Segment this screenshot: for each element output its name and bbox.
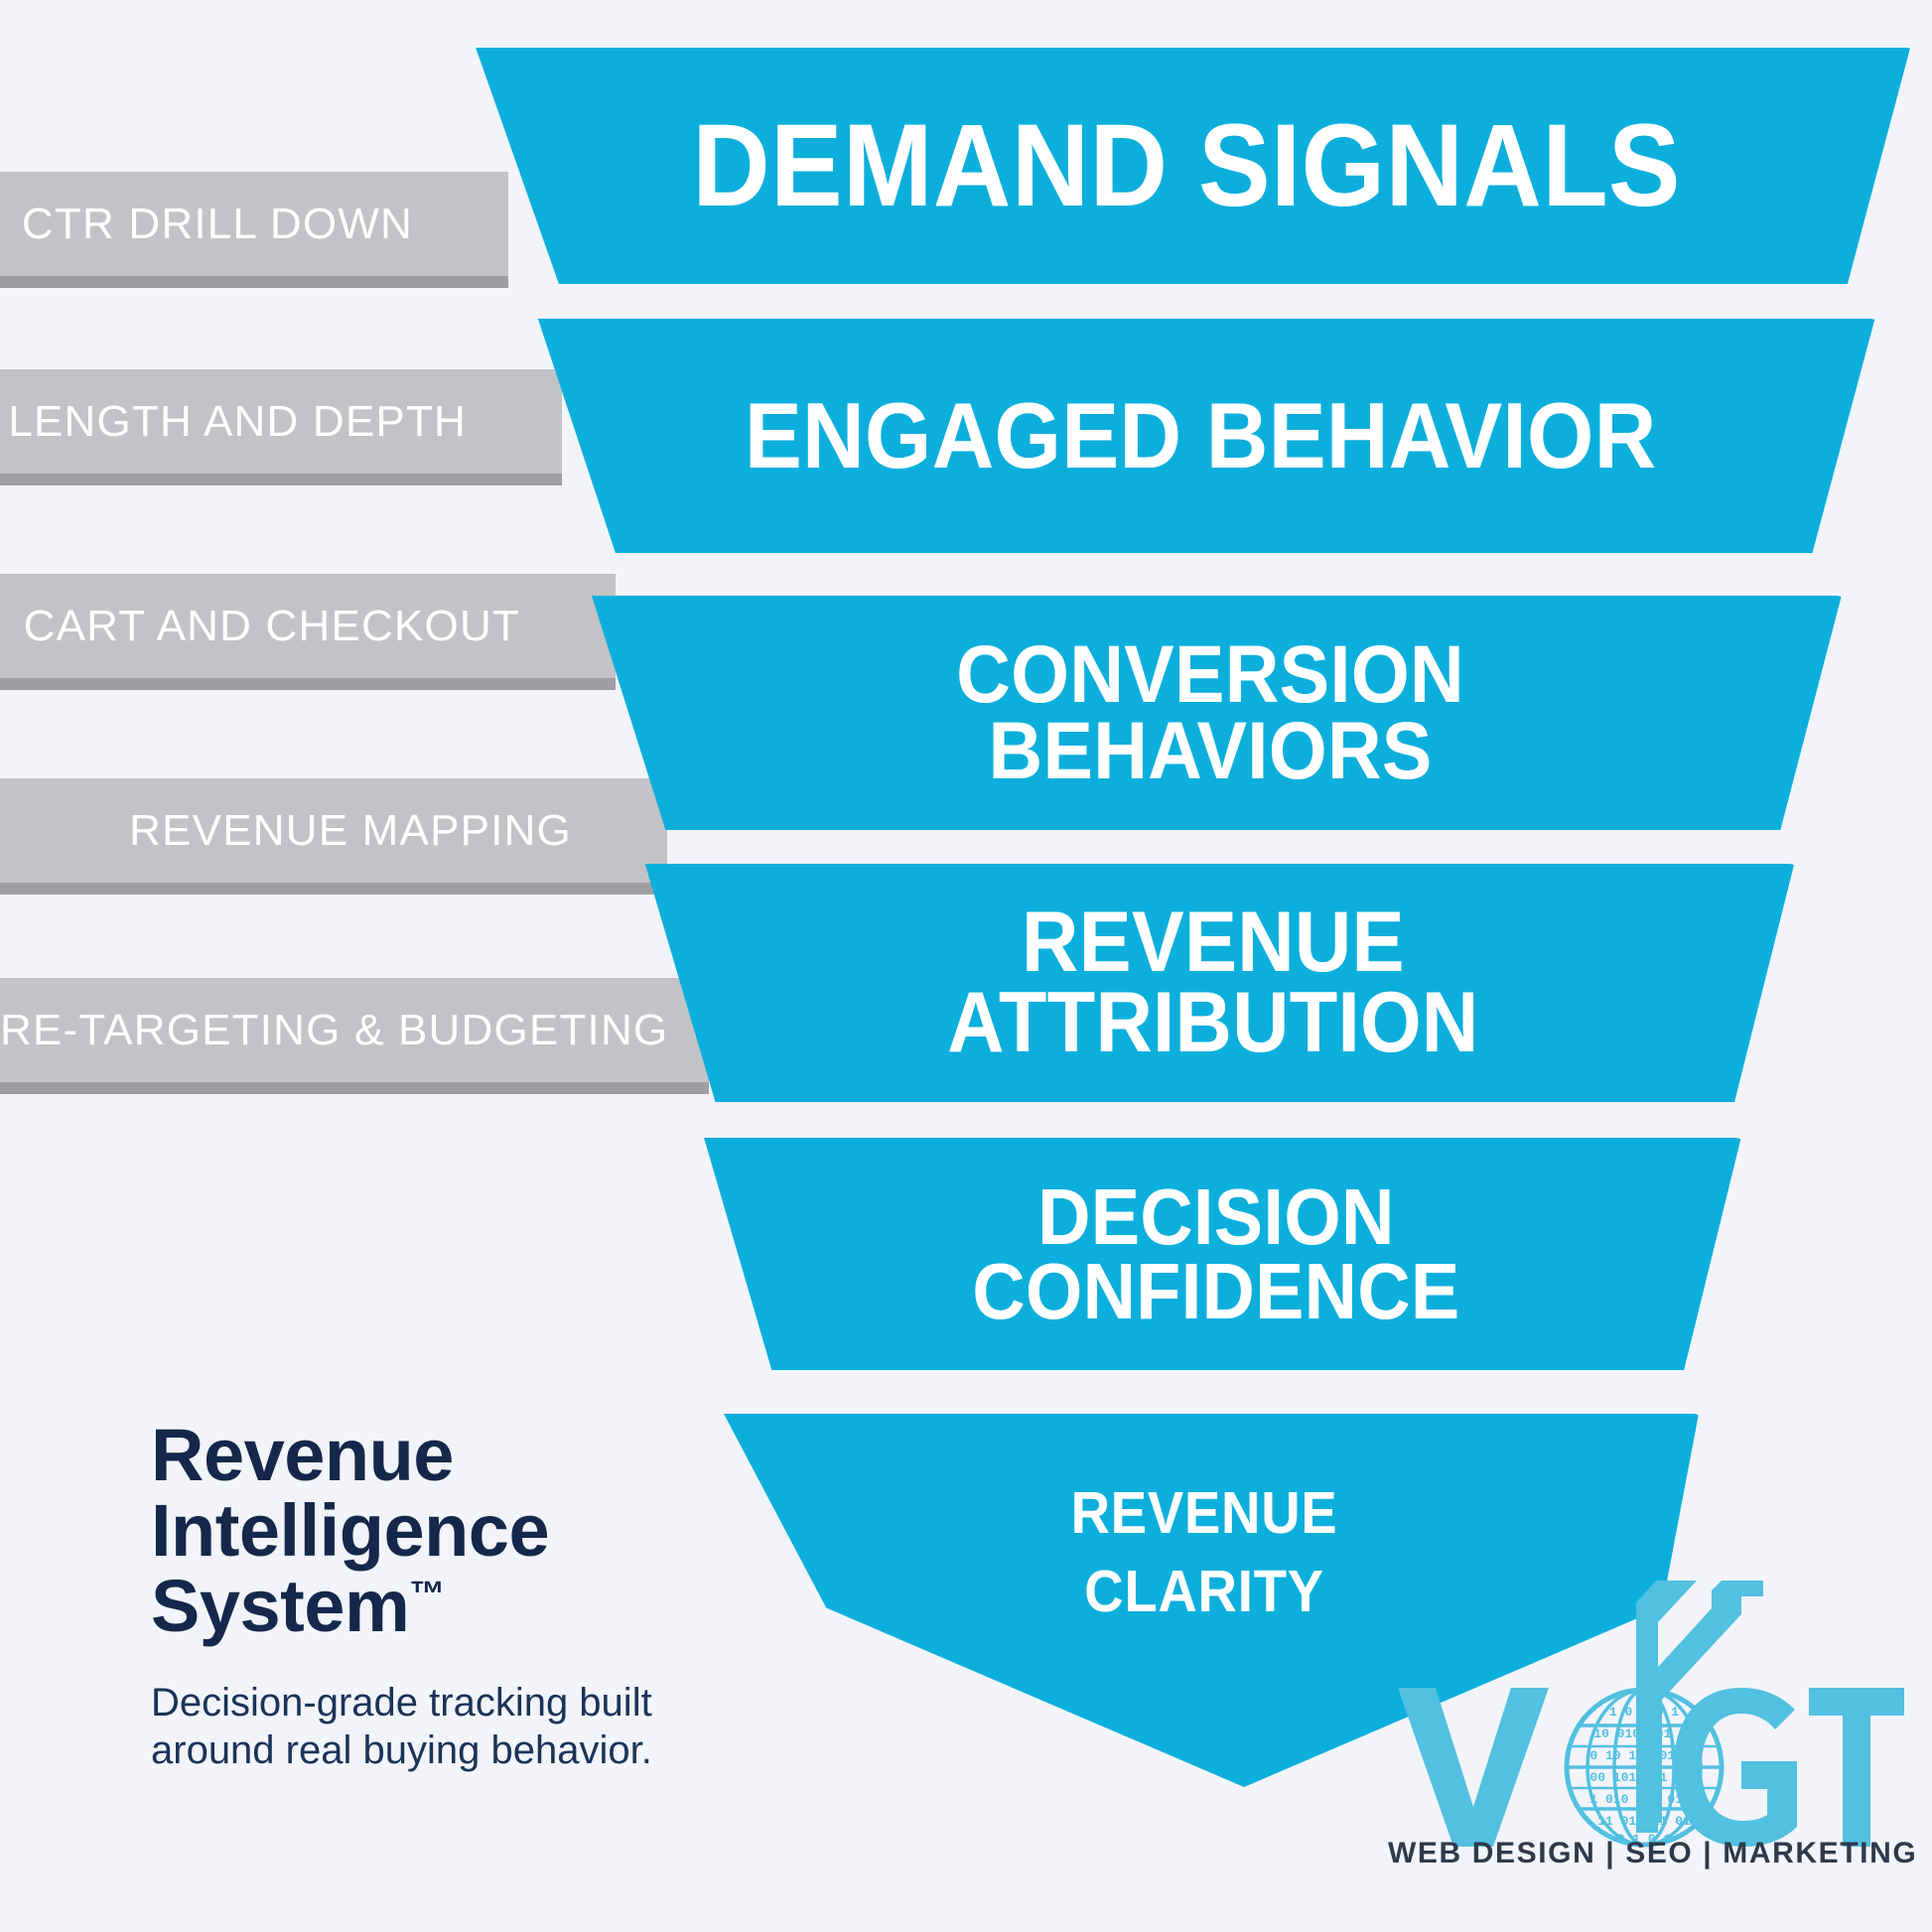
side-label-bar-revenue-mapping: REVENUE MAPPING: [0, 778, 667, 883]
brand-title-line-2: Intelligence: [151, 1493, 707, 1569]
bar-shadow: [0, 883, 667, 895]
vogt-logo[interactable]: 1 0 1 0 1 10 010 101 10 0 10 101 010 1 0…: [1388, 1581, 1904, 1908]
bar-shadow: [0, 276, 508, 288]
side-label-text: REVENUE MAPPING: [0, 806, 667, 856]
side-label-bar-length-and-depth: LENGTH AND DEPTH: [0, 369, 562, 474]
svg-text:0 10 101 010 1: 0 10 101 010 1: [1589, 1748, 1698, 1763]
side-label-bar-cart-and-checkout: CART AND CHECKOUT: [0, 574, 616, 678]
vogt-logo-graphic: 1 0 1 0 1 10 010 101 10 0 10 101 010 1 0…: [1388, 1581, 1904, 1878]
brand-title: Revenue Intelligence System™: [151, 1418, 707, 1645]
brand-title-line-1: Revenue: [151, 1418, 707, 1493]
svg-text:11 01 011 01: 11 01 011 01: [1597, 1814, 1691, 1829]
logo-tagline: WEB DESIGN | SEO | MARKETING: [1388, 1837, 1896, 1870]
brand-tagline-line-1: Decision-grade tracking built: [151, 1679, 707, 1727]
svg-text:1 010 001 01 1: 1 010 001 01 1: [1589, 1792, 1698, 1807]
logo-letter-v: [1398, 1688, 1549, 1847]
funnel-stage-label: REVENUE ATTRIBUTION: [931, 902, 1496, 1063]
svg-text:1 0 1 0 1: 1 0 1 0 1: [1609, 1705, 1679, 1720]
infographic-canvas: CTR DRILL DOWN LENGTH AND DEPTH CART AND…: [0, 0, 1932, 1932]
funnel-stage-decision-confidence[interactable]: DECISION CONFIDENCE: [687, 1138, 1745, 1370]
funnel-stage-label: REVENUE CLARITY: [1054, 1465, 1354, 1622]
funnel-stage-conversion-behaviors[interactable]: CONVERSION BEHAVIORS: [574, 596, 1847, 830]
side-label-text: RE-TARGETING & BUDGETING: [0, 1006, 709, 1055]
svg-text:00 101 111 110: 00 101 111 110: [1589, 1770, 1698, 1785]
funnel-stage-label: DECISION CONFIDENCE: [956, 1179, 1476, 1328]
funnel-stage-revenue-attribution[interactable]: REVENUE ATTRIBUTION: [627, 864, 1799, 1102]
brand-title-line-3: System™: [151, 1569, 707, 1644]
side-label-text: CTR DRILL DOWN: [0, 200, 508, 249]
side-label-text: CART AND CHECKOUT: [0, 602, 616, 651]
bar-shadow: [0, 474, 562, 485]
side-label-bar-ctr-drill-down: CTR DRILL DOWN: [0, 172, 508, 276]
svg-text:10 010 101 10: 10 010 101 10: [1593, 1726, 1695, 1741]
side-label-bar-retargeting-and-budgeting: RE-TARGETING & BUDGETING: [0, 978, 709, 1082]
bar-shadow: [0, 1082, 709, 1094]
funnel-stage-label: DEMAND SIGNALS: [676, 111, 1698, 221]
funnel-stage-label: ENGAGED BEHAVIOR: [728, 392, 1673, 480]
funnel-stage-demand-signals[interactable]: DEMAND SIGNALS: [457, 48, 1916, 284]
funnel-stage-label: CONVERSION BEHAVIORS: [940, 636, 1481, 789]
trademark-symbol: ™: [409, 1574, 445, 1614]
brand-block: Revenue Intelligence System™ Decision-gr…: [151, 1418, 707, 1775]
bar-shadow: [0, 678, 616, 690]
globe-icon: 1 0 1 0 1 10 010 101 10 0 10 101 010 1 0…: [1567, 1690, 1722, 1847]
side-label-text: LENGTH AND DEPTH: [0, 397, 562, 447]
brand-tagline-line-2: around real buying behavior.: [151, 1726, 707, 1775]
brand-tagline: Decision-grade tracking built around rea…: [151, 1679, 707, 1776]
logo-letter-t: [1809, 1688, 1904, 1847]
funnel-stage-engaged-behavior[interactable]: ENGAGED BEHAVIOR: [520, 319, 1880, 553]
